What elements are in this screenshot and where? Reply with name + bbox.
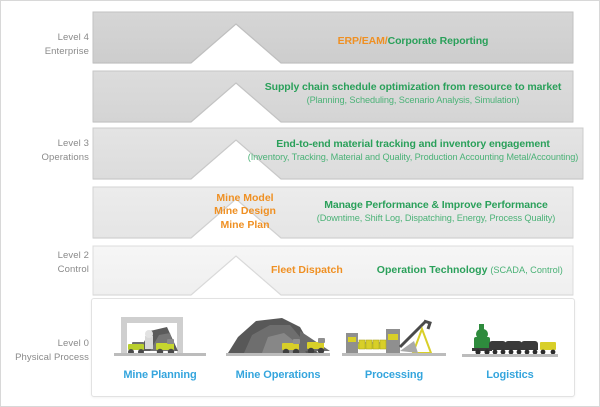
- band-manage-performance-shape: [91, 186, 575, 245]
- physical-item-logistics[interactable]: Logistics: [448, 299, 572, 396]
- mine-planning-icon: [104, 307, 216, 365]
- physical-item-mine-operations[interactable]: Mine Operations: [216, 299, 340, 396]
- band-erp: ERP/EAM/Corporate Reporting: [91, 11, 575, 70]
- physical-caption-mine-planning: Mine Planning: [123, 369, 196, 381]
- physical-caption-mine-operations: Mine Operations: [236, 369, 321, 381]
- level-label-level-0: Level 0Physical Process: [1, 337, 89, 364]
- band-operation-technology: Fleet Dispatch Operation Technology (SCA…: [91, 245, 575, 301]
- diagram-frame: Level 4Enterprise Level 3Operations Leve…: [0, 0, 600, 407]
- band-supply-chain-shape: [91, 70, 575, 129]
- band-manage-performance: Mine ModelMine DesignMine Plan Manage Pe…: [91, 186, 575, 245]
- mine-operations-icon: [222, 307, 334, 365]
- band-operation-technology-shape: [91, 245, 575, 301]
- band-supply-chain: Supply chain schedule optimization from …: [91, 70, 575, 129]
- level-label-level-2: Level 2Control: [1, 249, 89, 276]
- train-logistics-icon: [454, 307, 566, 365]
- physical-process-panel: Mine Planning: [91, 298, 575, 397]
- physical-caption-logistics: Logistics: [486, 369, 533, 381]
- band-material-tracking-shape: [91, 127, 585, 186]
- band-erp-shape: [91, 11, 575, 70]
- band-material-tracking: End-to-end material tracking and invento…: [91, 127, 585, 186]
- physical-item-processing[interactable]: Processing: [332, 299, 456, 396]
- level-label-level-3: Level 3Operations: [1, 137, 89, 164]
- physical-item-mine-planning[interactable]: Mine Planning: [98, 299, 222, 396]
- level-label-level-4: Level 4Enterprise: [1, 31, 89, 58]
- processing-plant-icon: [338, 307, 450, 365]
- physical-caption-processing: Processing: [365, 369, 423, 381]
